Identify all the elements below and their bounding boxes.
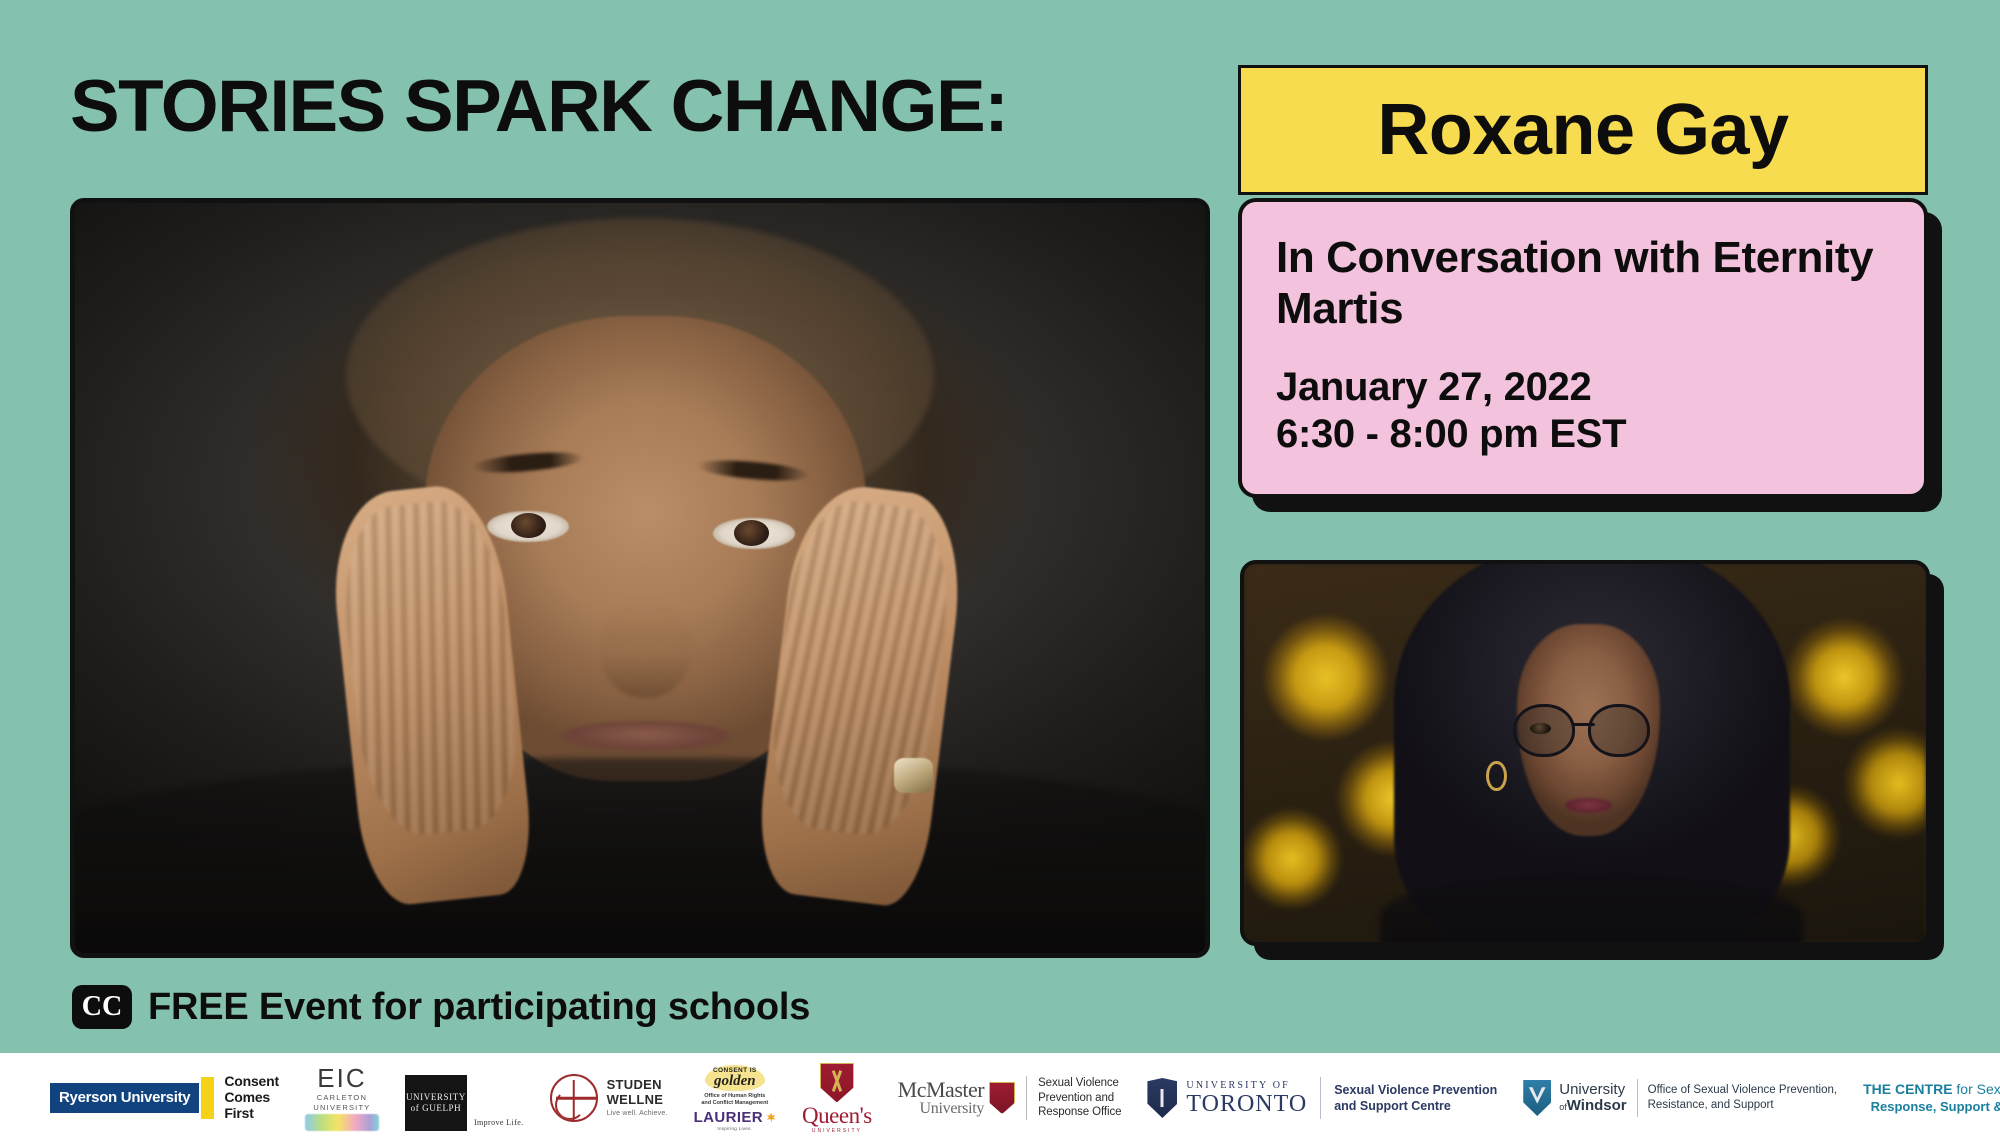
- eic-sub-2: UNIVERSITY: [305, 1103, 379, 1112]
- cig-script: golden: [713, 1074, 757, 1088]
- speaker-name-banner: Roxane Gay: [1238, 65, 1928, 195]
- consent-comes-first-label: Consent Comes First: [224, 1074, 279, 1121]
- host-body: [1380, 874, 1803, 946]
- guelph-tagline: Improve Life.: [474, 1118, 524, 1127]
- windsor-name-1: University: [1559, 1082, 1626, 1098]
- mcmaster-name-2: University: [898, 1101, 984, 1118]
- uoft-name-1: UNIVERSITY OF: [1186, 1081, 1307, 1091]
- queens-wordmark: Queen's: [802, 1104, 872, 1127]
- mcmaster-office-text: Sexual Violence Prevention and Response …: [1038, 1076, 1121, 1120]
- logo-student-wellness: STUDEN WELLNE Live well. Achieve.: [550, 1065, 668, 1131]
- closed-caption-icon: CC: [72, 985, 132, 1029]
- uoft-divider: [1320, 1077, 1321, 1119]
- logo-university-of-guelph: UNIVERSITY of GUELPH Improve Life.: [405, 1065, 524, 1131]
- student-wellness-icon: [550, 1074, 598, 1122]
- uoft-office-2: and Support Centre: [1334, 1098, 1497, 1114]
- event-info-card: In Conversation with Eternity Martis Jan…: [1238, 198, 1928, 498]
- portrait-nose: [600, 601, 690, 699]
- windsor-name-2: ofWindsor: [1559, 1098, 1626, 1114]
- closed-caption-line: CC FREE Event for participating schools: [72, 985, 810, 1029]
- secondary-portrait-photo: [1240, 560, 1930, 946]
- ryerson-wordmark: Ryerson University: [50, 1083, 199, 1114]
- eic-acronym: EIC: [305, 1065, 379, 1091]
- windsor-of: of: [1559, 1102, 1567, 1112]
- mcmaster-name-1: McMaster: [898, 1078, 984, 1101]
- centre-rest: for Sexual Violence: [1953, 1081, 2000, 1097]
- queens-shield-icon: [820, 1063, 854, 1103]
- sw-tagline: Live well. Achieve.: [607, 1110, 668, 1118]
- eic-subtext: CARLETON UNIVERSITY: [305, 1093, 379, 1112]
- speaker-name: Roxane Gay: [1377, 94, 1788, 166]
- ccf-line-2: Comes: [224, 1090, 279, 1106]
- laurier-brand: LAURIER: [694, 1109, 776, 1126]
- free-event-text: FREE Event for participating schools: [148, 986, 810, 1029]
- laurier-office: Office of Human Rights and Conflict Mana…: [694, 1093, 776, 1107]
- windsor-office-2: Resistance, and Support: [1648, 1098, 1837, 1113]
- guelph-crest: UNIVERSITY of GUELPH: [405, 1075, 467, 1131]
- ryerson-yellow-bar: [201, 1077, 214, 1119]
- portrait-shirt: [70, 758, 1210, 958]
- uoft-name-2: TORONTO: [1186, 1092, 1307, 1116]
- windsor-crest-icon: [1523, 1080, 1551, 1116]
- mcmaster-office-2: Prevention and: [1038, 1091, 1121, 1106]
- laurier-wordmark: LAURIER: [694, 1109, 763, 1126]
- ryerson-name: Ryerson University: [59, 1089, 190, 1106]
- windsor-city: Windsor: [1567, 1097, 1627, 1114]
- host-eye: [1530, 723, 1550, 734]
- maple-leaf-icon: [766, 1113, 776, 1123]
- sw-line-1: STUDEN: [607, 1078, 668, 1093]
- uoft-wordmark: UNIVERSITY OF TORONTO: [1186, 1081, 1307, 1116]
- logo-university-of-toronto-svpsc: UNIVERSITY OF TORONTO Sexual Violence Pr…: [1147, 1065, 1497, 1131]
- mcmaster-wordmark: McMaster University: [898, 1078, 984, 1118]
- event-conversation-title: In Conversation with Eternity Martis: [1276, 232, 1890, 334]
- portrait-pupil-right: [734, 520, 769, 546]
- ccf-line-1: Consent: [224, 1074, 279, 1090]
- mcmaster-divider: [1026, 1076, 1027, 1120]
- portrait-mouth: [561, 721, 731, 751]
- main-portrait-photo: [70, 198, 1210, 958]
- logo-queens-university: Queen's UNIVERSITY: [802, 1065, 872, 1131]
- ccf-line-3: First: [224, 1106, 279, 1122]
- logo-mcmaster-svpro: McMaster University Sexual Violence Prev…: [898, 1065, 1122, 1131]
- uoft-crest-icon: [1147, 1078, 1177, 1118]
- guelph-crest-2: of GUELPH: [411, 1103, 462, 1114]
- logo-the-centre-for-sexual-violence: THE CENTRE for Sexual Violence Response,…: [1863, 1065, 2000, 1131]
- host-glasses-right: [1588, 704, 1649, 757]
- centre-line-2: Response, Support & Education: [1863, 1099, 2000, 1116]
- eic-sub-1: CARLETON: [305, 1093, 379, 1102]
- page-title: STORIES SPARK CHANGE:: [70, 70, 1007, 143]
- eic-color-swoosh-icon: [305, 1114, 379, 1131]
- queens-subtext: UNIVERSITY: [802, 1128, 872, 1134]
- event-datetime: January 27, 2022 6:30 - 8:00 pm EST: [1276, 364, 1890, 458]
- guelph-crest-1: UNIVERSITY: [406, 1092, 466, 1103]
- windsor-office-text: Office of Sexual Violence Prevention, Re…: [1648, 1083, 1837, 1113]
- sponsor-logo-bar: Ryerson University Consent Comes First E…: [0, 1053, 2000, 1143]
- centre-bold: THE CENTRE: [1863, 1081, 1952, 1097]
- portrait-ring: [894, 758, 932, 793]
- windsor-wordmark: University ofWindsor: [1559, 1082, 1626, 1114]
- event-time: 6:30 - 8:00 pm EST: [1276, 411, 1890, 458]
- mcmaster-office-1: Sexual Violence: [1038, 1076, 1121, 1091]
- event-date: January 27, 2022: [1276, 364, 1890, 411]
- mcmaster-crest-icon: [989, 1082, 1015, 1114]
- host-glasses-bridge: [1573, 723, 1595, 726]
- student-wellness-arc: [555, 1090, 585, 1120]
- centre-line-1: THE CENTRE for Sexual Violence: [1863, 1080, 2000, 1098]
- laurier-office-1: Office of Human Rights: [694, 1093, 776, 1100]
- windsor-office-1: Office of Sexual Violence Prevention,: [1648, 1083, 1837, 1098]
- student-wellness-text: STUDEN WELLNE Live well. Achieve.: [607, 1078, 668, 1118]
- logo-laurier-consent-is-golden: CONSENT IS golden Office of Human Rights…: [694, 1065, 776, 1131]
- host-hoop-earring: [1486, 761, 1506, 791]
- mcmaster-office-3: Response Office: [1038, 1105, 1121, 1120]
- uoft-office-1: Sexual Violence Prevention: [1334, 1082, 1497, 1098]
- logo-eic-carleton: EIC CARLETON UNIVERSITY: [305, 1065, 379, 1131]
- consent-is-golden-badge: CONSENT IS golden: [705, 1065, 765, 1091]
- logo-ryerson-university: Ryerson University Consent Comes First: [50, 1065, 279, 1131]
- title-row: STORIES SPARK CHANGE: Roxane Gay: [0, 30, 2000, 170]
- laurier-office-2: and Conflict Management: [694, 1100, 776, 1107]
- logo-university-of-windsor-osvprs: University ofWindsor Office of Sexual Vi…: [1523, 1065, 1837, 1131]
- laurier-tagline: Inspiring Lives.: [694, 1126, 776, 1131]
- windsor-divider: [1637, 1079, 1638, 1117]
- sw-line-2: WELLNE: [607, 1093, 668, 1108]
- uoft-office-text: Sexual Violence Prevention and Support C…: [1334, 1082, 1497, 1114]
